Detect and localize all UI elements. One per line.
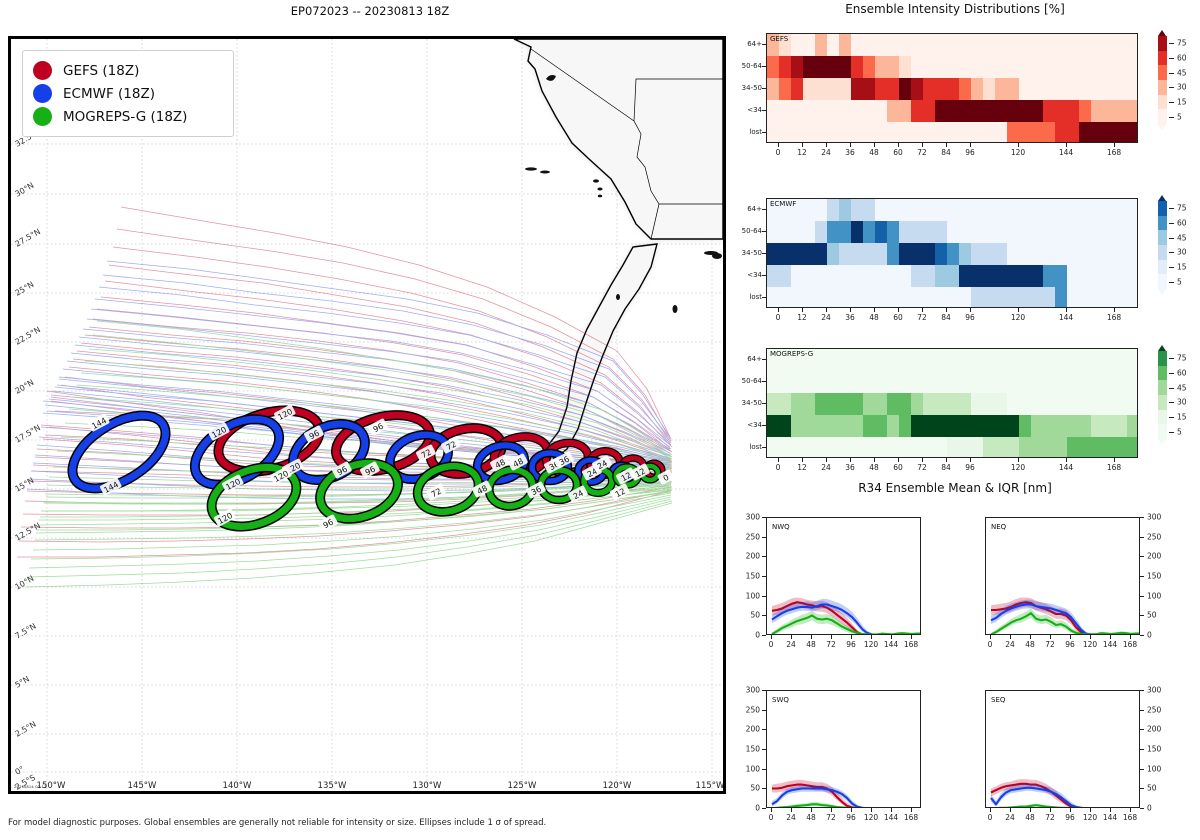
heatmap-cell [1103, 415, 1116, 437]
heatmap-cell [935, 34, 948, 56]
colorbar-tick [1169, 402, 1174, 403]
r34-y-label: 150 [1147, 572, 1161, 581]
r34-y-label: 200 [1147, 725, 1161, 734]
heatmap-cell [827, 122, 840, 143]
heatmap-y-tick [762, 88, 766, 89]
heatmap-x-label: 96 [965, 148, 975, 157]
r34-x-tick [791, 808, 792, 812]
heatmap-cell [1067, 287, 1080, 308]
r34-x-tick [1010, 808, 1011, 812]
heatmap-cell [863, 415, 876, 437]
heatmap-cell [839, 287, 852, 308]
heatmap-cell [779, 437, 792, 458]
r34-x-label: 72 [826, 813, 836, 822]
r34-plot-nwq[interactable] [766, 517, 921, 635]
heatmap-x-label: 72 [917, 313, 927, 322]
colorbar-tick [1169, 282, 1174, 283]
heatmap-cell [1019, 100, 1032, 122]
heatmap-cell [947, 265, 960, 287]
heatmap-cell [995, 265, 1008, 287]
heatmap-cell [815, 34, 828, 56]
heatmap-cell [947, 393, 960, 415]
heatmap-x-tick [850, 308, 851, 312]
colorbar-tick [1169, 388, 1174, 389]
heatmap-y-label: 64+ [728, 205, 762, 213]
colorbar-ecmwf [1158, 201, 1167, 289]
r34-y-tick [1140, 596, 1144, 597]
heatmap-cell [1091, 122, 1104, 143]
heatmap-y-tick [762, 447, 766, 448]
heatmap-cell [887, 393, 900, 415]
heatmap-cell [947, 243, 960, 265]
heatmap-cell [791, 243, 804, 265]
heatmap-cell [827, 287, 840, 308]
r34-x-label: 96 [846, 813, 856, 822]
r34-y-tick [1140, 729, 1144, 730]
heatmap-x-tick [874, 143, 875, 147]
heatmap-cell [839, 393, 852, 415]
r34-plot-seq[interactable] [985, 690, 1140, 808]
colorbar-segment [1158, 380, 1167, 395]
heatmap-cell [779, 415, 792, 437]
colorbar-segment [1158, 36, 1167, 51]
heatmap-cell [959, 371, 972, 393]
r34-y-tick [762, 729, 766, 730]
heatmap-cell [911, 393, 924, 415]
heatmap-cell [1031, 437, 1044, 458]
heatmap-cell [1079, 122, 1092, 143]
heatmap-x-tick [898, 458, 899, 462]
heatmap-cell [923, 349, 936, 371]
heatmap-x-label: 48 [869, 148, 879, 157]
heatmap-cell [839, 199, 852, 221]
heatmap-x-tick [802, 143, 803, 147]
r34-y-label: 300 [738, 513, 760, 522]
heatmap-cell [995, 437, 1008, 458]
heatmap-cell [827, 371, 840, 393]
r34-x-label: 0 [988, 813, 993, 822]
r34-y-label: 150 [738, 745, 760, 754]
heatmap-x-tick [802, 308, 803, 312]
heatmap-cell [923, 56, 936, 78]
r34-x-tick [811, 808, 812, 812]
r34-y-label: 150 [1147, 745, 1161, 754]
heatmap-cell [1115, 349, 1128, 371]
heatmap-cell [1079, 349, 1092, 371]
r34-x-tick [990, 808, 991, 812]
heatmap-cell [1091, 34, 1104, 56]
heatmap-cell [1043, 56, 1056, 78]
colorbar-segment [1158, 274, 1167, 289]
heatmap-cell [959, 199, 972, 221]
heatmap-cell [911, 100, 924, 122]
heatmap-cell [947, 287, 960, 308]
heatmap-cell [791, 287, 804, 308]
heatmap-cell [923, 393, 936, 415]
heatmap-plot-mogreps-g[interactable]: MOGREPS-G [766, 348, 1138, 458]
heatmap-cell [1127, 78, 1138, 100]
r34-x-label: 0 [769, 813, 774, 822]
heatmap-cell [923, 265, 936, 287]
heatmap-cell [1031, 199, 1044, 221]
heatmap-cell [1067, 34, 1080, 56]
heatmap-x-label: 144 [1059, 313, 1073, 322]
heatmap-x-tick [850, 458, 851, 462]
r34-x-tick [831, 808, 832, 812]
r34-x-label: 168 [904, 640, 918, 649]
heatmap-cell [767, 371, 780, 393]
heatmap-cell [875, 34, 888, 56]
heatmap-cell [911, 221, 924, 243]
heatmap-cell [1043, 349, 1056, 371]
heatmap-cell [1019, 437, 1032, 458]
heatmap-cell [827, 265, 840, 287]
heatmap-cell [1115, 122, 1128, 143]
heatmap-cell [863, 265, 876, 287]
heatmap-cell [803, 56, 816, 78]
heatmap-cell [815, 393, 828, 415]
heatmap-cell [1067, 78, 1080, 100]
heatmap-cell [935, 78, 948, 100]
heatmap-cell [1103, 437, 1116, 458]
r34-x-tick [891, 635, 892, 639]
r34-y-tick [762, 576, 766, 577]
colorbar-label: 45 [1177, 68, 1187, 77]
heatmap-cell [1115, 393, 1128, 415]
heatmap-cell [1031, 243, 1044, 265]
r34-y-tick [1140, 808, 1144, 809]
heatmap-cell [815, 371, 828, 393]
legend-swatch-ecmwf [33, 84, 52, 103]
heatmap-cell [1031, 415, 1044, 437]
r34-y-tick [1140, 517, 1144, 518]
heatmap-cell [983, 415, 996, 437]
r34-x-tick [831, 635, 832, 639]
heatmap-cell [911, 122, 924, 143]
r34-y-label: 250 [738, 705, 760, 714]
heatmap-cell [779, 243, 792, 265]
heatmap-cell [767, 415, 780, 437]
heatmap-cell [863, 100, 876, 122]
heatmap-cell [947, 100, 960, 122]
heatmap-cell [935, 265, 948, 287]
heatmap-cell [947, 199, 960, 221]
r34-x-label: 48 [1025, 813, 1035, 822]
svg-text:115°W: 115°W [696, 781, 723, 791]
r34-y-tick [762, 769, 766, 770]
heatmap-cell [959, 437, 972, 458]
heatmap-cell [1115, 78, 1128, 100]
colorbar-tick [1169, 43, 1174, 44]
heatmap-cell [959, 265, 972, 287]
heatmap-cell [839, 34, 852, 56]
r34-x-tick [1030, 808, 1031, 812]
r34-plot-swq[interactable] [766, 690, 921, 808]
heatmap-x-label: 0 [776, 313, 781, 322]
heatmap-cell [863, 287, 876, 308]
heatmap-x-tick [1018, 308, 1019, 312]
heatmap-x-label: 0 [776, 148, 781, 157]
r34-y-label: 250 [738, 532, 760, 541]
legend-item-gefs[interactable]: GEFS (18Z) [33, 59, 223, 82]
heatmap-cell [1091, 437, 1104, 458]
heatmap-x-label: 60 [893, 148, 903, 157]
heatmap-cell [779, 78, 792, 100]
heatmap-cell [1079, 393, 1092, 415]
heatmap-cell [851, 287, 864, 308]
r34-x-label: 0 [988, 640, 993, 649]
heatmap-cell [947, 78, 960, 100]
heatmap-cell [1115, 100, 1128, 122]
heatmap-cell [839, 415, 852, 437]
heatmap-cell [1019, 287, 1032, 308]
heatmap-cell [923, 437, 936, 458]
colorbar-arrow-up [1158, 195, 1166, 201]
track-map-panel[interactable]: 144 144 120 120 120 120 120 120 96 96 96… [8, 36, 726, 794]
heatmap-cell [983, 437, 996, 458]
heatmap-cell [983, 56, 996, 78]
heatmap-cell [767, 287, 780, 308]
r34-quadrant-tag: NWQ [772, 523, 790, 531]
heatmap-cell [1007, 78, 1020, 100]
r34-quadrant-tag: SEQ [991, 696, 1005, 704]
heatmap-cell [1055, 122, 1068, 143]
legend-label-gefs: GEFS (18Z) [63, 63, 139, 79]
heatmap-cell [1103, 393, 1116, 415]
r34-x-label: 96 [1065, 813, 1075, 822]
heatmap-cell [947, 415, 960, 437]
r34-series-graphic [767, 518, 921, 635]
r34-y-tick [1140, 556, 1144, 557]
heatmap-cell [911, 243, 924, 265]
heatmap-x-tick [874, 308, 875, 312]
heatmap-cell [803, 122, 816, 143]
heatmap-cell [1031, 349, 1044, 371]
heatmap-cell [899, 243, 912, 265]
heatmap-cell [911, 371, 924, 393]
heatmap-x-tick [922, 308, 923, 312]
r34-x-tick [911, 808, 912, 812]
colorbar-label: 30 [1177, 398, 1187, 407]
r34-y-label: 0 [1147, 631, 1152, 640]
heatmap-cell [827, 34, 840, 56]
colorbar-tick [1169, 358, 1174, 359]
heatmap-cell [815, 265, 828, 287]
heatmap-cell [935, 287, 948, 308]
heatmap-cell [1019, 349, 1032, 371]
heatmap-plot-gefs[interactable]: GEFS [766, 33, 1138, 143]
heatmap-cell [815, 221, 828, 243]
legend-swatch-mogreps [33, 107, 52, 126]
legend-swatch-gefs [33, 61, 52, 80]
r34-x-tick [1070, 808, 1071, 812]
legend-item-mogreps[interactable]: MOGREPS-G (18Z) [33, 105, 223, 128]
heatmap-cell [827, 415, 840, 437]
r34-y-label: 200 [1147, 552, 1161, 561]
heatmap-cell [1091, 78, 1104, 100]
legend-item-ecmwf[interactable]: ECMWF (18Z) [33, 82, 223, 105]
heatmap-cell [779, 371, 792, 393]
r34-x-tick [1090, 635, 1091, 639]
r34-y-tick [762, 710, 766, 711]
r34-x-tick [1010, 635, 1011, 639]
heatmap-cell [971, 349, 984, 371]
heatmap-x-label: 72 [917, 148, 927, 157]
heatmap-cell [887, 437, 900, 458]
r34-x-tick [1130, 635, 1131, 639]
heatmap-cell [923, 415, 936, 437]
heatmap-cell [851, 34, 864, 56]
heatmap-cell [1127, 349, 1138, 371]
heatmap-cell [1007, 243, 1020, 265]
colorbar-label: 30 [1177, 83, 1187, 92]
heatmap-x-label: 12 [797, 313, 807, 322]
heatmap-cell [959, 349, 972, 371]
r34-y-label: 300 [1147, 686, 1161, 695]
heatmap-cell [911, 349, 924, 371]
heatmap-x-label: 120 [1011, 148, 1025, 157]
heatmap-x-label: 168 [1107, 148, 1121, 157]
heatmap-cell [899, 415, 912, 437]
heatmap-cell [851, 199, 864, 221]
heatmap-cell [1091, 56, 1104, 78]
heatmap-cell [851, 349, 864, 371]
heatmap-cell [887, 415, 900, 437]
heatmap-cell [899, 349, 912, 371]
map-canvas[interactable]: 144 144 120 120 120 120 120 120 96 96 96… [11, 39, 723, 791]
heatmap-cell [1043, 371, 1056, 393]
heatmap-cell [1031, 56, 1044, 78]
heatmap-cell [1007, 34, 1020, 56]
r34-x-tick [1130, 808, 1131, 812]
heatmap-cell [1127, 415, 1138, 437]
r34-y-label: 200 [738, 552, 760, 561]
r34-y-tick [762, 556, 766, 557]
colorbar-tick [1169, 417, 1174, 418]
heatmap-cell [803, 100, 816, 122]
heatmap-cell [1031, 393, 1044, 415]
heatmap-cell [1067, 221, 1080, 243]
heatmap-cell [1043, 393, 1056, 415]
heatmap-cell [1127, 437, 1138, 458]
heatmap-y-label: 34-50 [728, 249, 762, 257]
heatmap-cell [887, 243, 900, 265]
r34-x-label: 0 [769, 640, 774, 649]
colorbar-segment [1158, 201, 1167, 216]
heatmap-cell [1055, 56, 1068, 78]
heatmap-x-label: 72 [917, 463, 927, 472]
heatmap-cell [911, 287, 924, 308]
heatmap-cell [839, 122, 852, 143]
heatmap-cell [983, 265, 996, 287]
legend-label-ecmwf: ECMWF (18Z) [63, 86, 155, 102]
map-graphic: 144 144 120 120 120 120 120 120 96 96 96… [11, 39, 723, 791]
heatmap-cell [1067, 265, 1080, 287]
heatmap-cell [1043, 437, 1056, 458]
heatmap-y-tick [762, 66, 766, 67]
heatmap-x-tick [970, 143, 971, 147]
heatmap-cell [1091, 349, 1104, 371]
heatmap-cell [1043, 287, 1056, 308]
svg-text:145°W: 145°W [128, 781, 157, 791]
r34-x-tick [1050, 808, 1051, 812]
heatmap-cell [875, 371, 888, 393]
heatmap-cell [1007, 349, 1020, 371]
heatmap-y-tick [762, 110, 766, 111]
r34-x-label: 144 [1103, 640, 1117, 649]
heatmap-cell [851, 415, 864, 437]
r34-x-tick [911, 635, 912, 639]
heatmap-cell [935, 371, 948, 393]
heatmap-cell [1007, 287, 1020, 308]
heatmap-cell [803, 415, 816, 437]
heatmap-y-tick [762, 231, 766, 232]
heatmap-cell [959, 78, 972, 100]
heatmap-cell [1007, 100, 1020, 122]
heatmap-cell [1103, 56, 1116, 78]
heatmap-x-label: 48 [869, 313, 879, 322]
heatmap-cell [959, 122, 972, 143]
heatmap-cell [911, 34, 924, 56]
heatmap-cell [983, 199, 996, 221]
r34-y-label: 50 [1147, 784, 1157, 793]
heatmap-plot-ecmwf[interactable]: ECMWF [766, 198, 1138, 308]
heatmap-cell [1019, 34, 1032, 56]
r34-y-tick [762, 596, 766, 597]
heatmap-cell [1079, 100, 1092, 122]
r34-x-tick [851, 808, 852, 812]
colorbar-gefs [1158, 36, 1167, 124]
r34-x-tick [990, 635, 991, 639]
heatmap-x-tick [1114, 143, 1115, 147]
heatmap-cell [1055, 221, 1068, 243]
heatmap-cell [815, 243, 828, 265]
heatmap-cell [1067, 199, 1080, 221]
heatmap-cell [875, 122, 888, 143]
heatmap-model-tag: GEFS [770, 35, 788, 43]
heatmap-x-tick [778, 458, 779, 462]
r34-x-tick [1050, 635, 1051, 639]
heatmap-cell [971, 265, 984, 287]
r34-y-label: 0 [738, 631, 760, 640]
heatmap-cell [1115, 56, 1128, 78]
heatmap-x-label: 12 [797, 148, 807, 157]
heatmap-cell [935, 221, 948, 243]
colorbar-arrow-down [1158, 439, 1166, 445]
colorbar-label: 5 [1177, 112, 1182, 121]
colorbar-label: 15 [1177, 98, 1187, 107]
heatmap-cell [1127, 100, 1138, 122]
r34-quadrant-tag: SWQ [772, 696, 789, 704]
colorbar-tick [1169, 252, 1174, 253]
heatmap-x-label: 120 [1011, 313, 1025, 322]
heatmap-cell [1055, 393, 1068, 415]
heatmap-x-tick [970, 458, 971, 462]
heatmap-y-label: 50-64 [728, 62, 762, 70]
heatmap-x-label: 144 [1059, 148, 1073, 157]
heatmap-cell [1043, 265, 1056, 287]
heatmap-cell [875, 100, 888, 122]
heatmap-cell [851, 221, 864, 243]
colorbar-segment [1158, 410, 1167, 425]
r34-plot-neq[interactable] [985, 517, 1140, 635]
colorbar-tick [1169, 102, 1174, 103]
heatmap-x-label: 36 [845, 313, 855, 322]
r34-x-label: 120 [864, 813, 878, 822]
r34-y-tick [762, 615, 766, 616]
heatmap-cell [983, 287, 996, 308]
colorbar-label: 75 [1177, 39, 1187, 48]
